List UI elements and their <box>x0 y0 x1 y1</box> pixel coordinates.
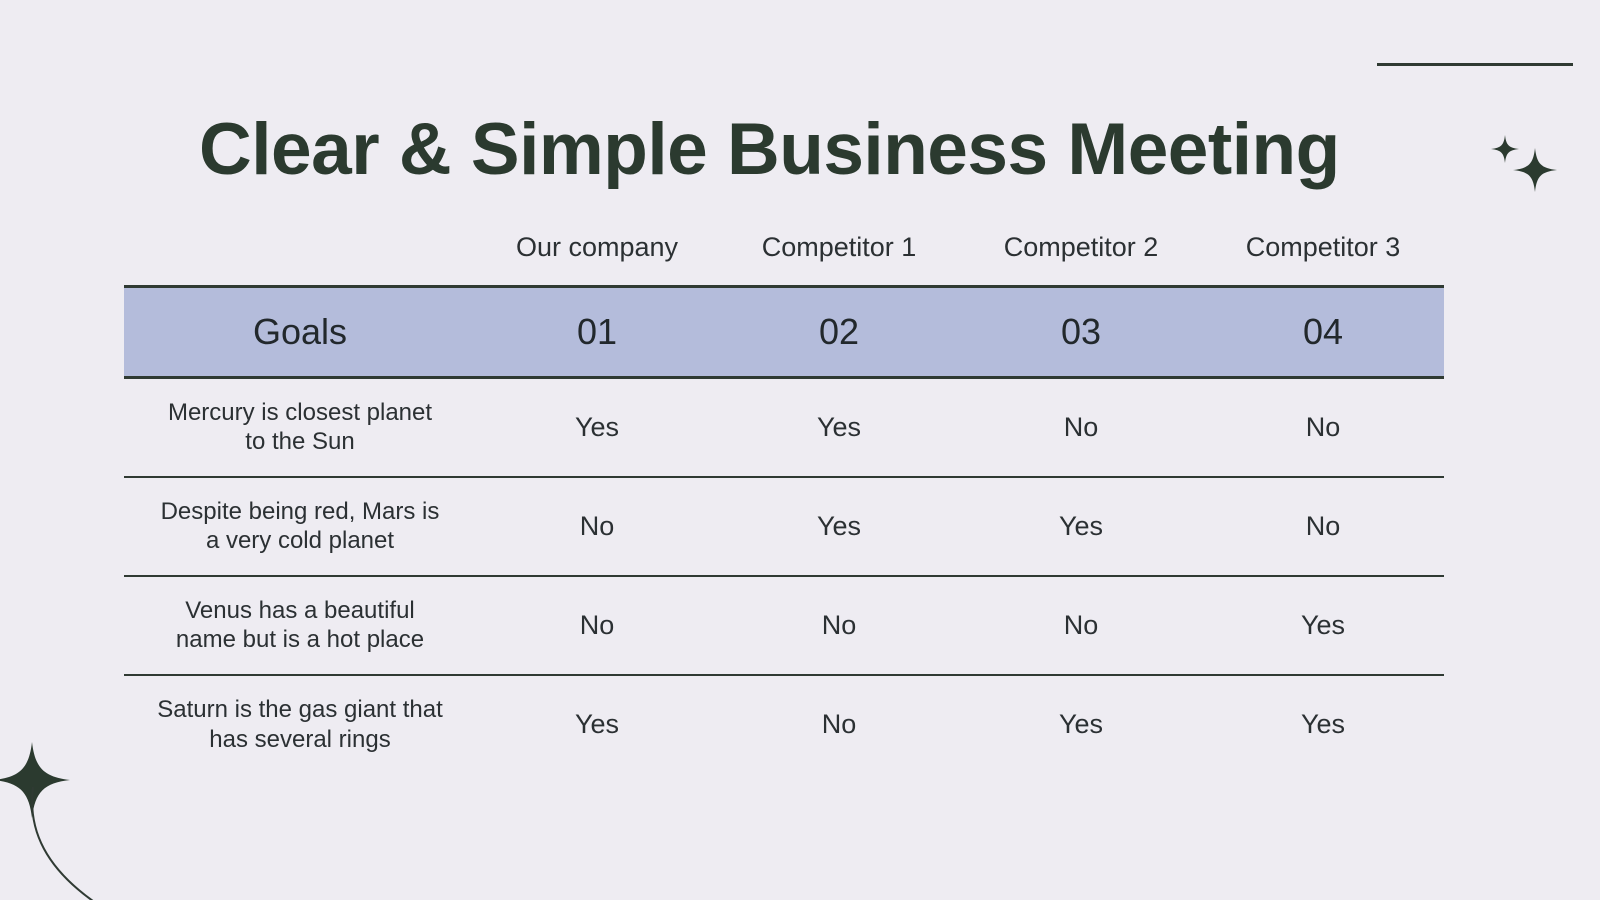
table-header: Our company Competitor 1 Competitor 2 Co… <box>124 232 1444 287</box>
cell-competitor-2: Yes <box>960 675 1202 774</box>
table-header-row: Our company Competitor 1 Competitor 2 Co… <box>124 232 1444 287</box>
cell-competitor-2: No <box>960 576 1202 675</box>
column-header-competitor-1: Competitor 1 <box>718 232 960 287</box>
cell-competitor-2: No <box>960 378 1202 477</box>
goals-row-value-2: 02 <box>718 287 960 378</box>
cell-competitor-1: Yes <box>718 477 960 576</box>
cell-competitor-3: No <box>1202 378 1444 477</box>
row-label-line1: Despite being red, Mars is <box>161 498 440 525</box>
goals-row-label: Goals <box>124 287 476 378</box>
slide-canvas: Clear & Simple Business Meeting Our comp… <box>0 0 1600 900</box>
row-label: Saturn is the gas giant that has several… <box>124 675 476 774</box>
sparkle-star-icon <box>1513 148 1557 192</box>
goals-row-value-4: 04 <box>1202 287 1444 378</box>
table-row: Saturn is the gas giant that has several… <box>124 675 1444 774</box>
table-row: Despite being red, Mars is a very cold p… <box>124 477 1444 576</box>
table-body: Goals 01 02 03 04 Mercury is closest pla… <box>124 287 1444 774</box>
column-header-our-company: Our company <box>476 232 718 287</box>
cell-competitor-3: Yes <box>1202 675 1444 774</box>
row-label-line2: to the Sun <box>245 428 354 455</box>
row-label-line1: Saturn is the gas giant that <box>157 696 443 723</box>
row-label-line1: Mercury is closest planet <box>168 399 432 426</box>
cell-competitor-3: No <box>1202 477 1444 576</box>
page-title: Clear & Simple Business Meeting <box>199 110 1399 190</box>
row-label-line2: a very cold planet <box>206 527 394 554</box>
table-row: Venus has a beautiful name but is a hot … <box>124 576 1444 675</box>
column-header-competitor-3: Competitor 3 <box>1202 232 1444 287</box>
top-rule-decoration <box>1377 63 1573 66</box>
goals-row-value-1: 01 <box>476 287 718 378</box>
cell-our-company: No <box>476 477 718 576</box>
cell-competitor-1: Yes <box>718 378 960 477</box>
comparison-table: Our company Competitor 1 Competitor 2 Co… <box>124 232 1444 774</box>
cell-competitor-1: No <box>718 675 960 774</box>
goals-row-value-3: 03 <box>960 287 1202 378</box>
column-header-blank <box>124 232 476 287</box>
cell-our-company: No <box>476 576 718 675</box>
cell-our-company: Yes <box>476 675 718 774</box>
row-label-line2: has several rings <box>209 726 390 753</box>
row-label: Mercury is closest planet to the Sun <box>124 378 476 477</box>
column-header-competitor-2: Competitor 2 <box>960 232 1202 287</box>
table-row: Mercury is closest planet to the Sun Yes… <box>124 378 1444 477</box>
row-label: Venus has a beautiful name but is a hot … <box>124 576 476 675</box>
table-row-goals: Goals 01 02 03 04 <box>124 287 1444 378</box>
comparison-table-wrapper: Our company Competitor 1 Competitor 2 Co… <box>124 232 1444 774</box>
row-label-line2: name but is a hot place <box>176 626 424 653</box>
cell-our-company: Yes <box>476 378 718 477</box>
row-label-line1: Venus has a beautiful <box>185 597 415 624</box>
row-label: Despite being red, Mars is a very cold p… <box>124 477 476 576</box>
cell-competitor-2: Yes <box>960 477 1202 576</box>
cell-competitor-1: No <box>718 576 960 675</box>
cell-competitor-3: Yes <box>1202 576 1444 675</box>
